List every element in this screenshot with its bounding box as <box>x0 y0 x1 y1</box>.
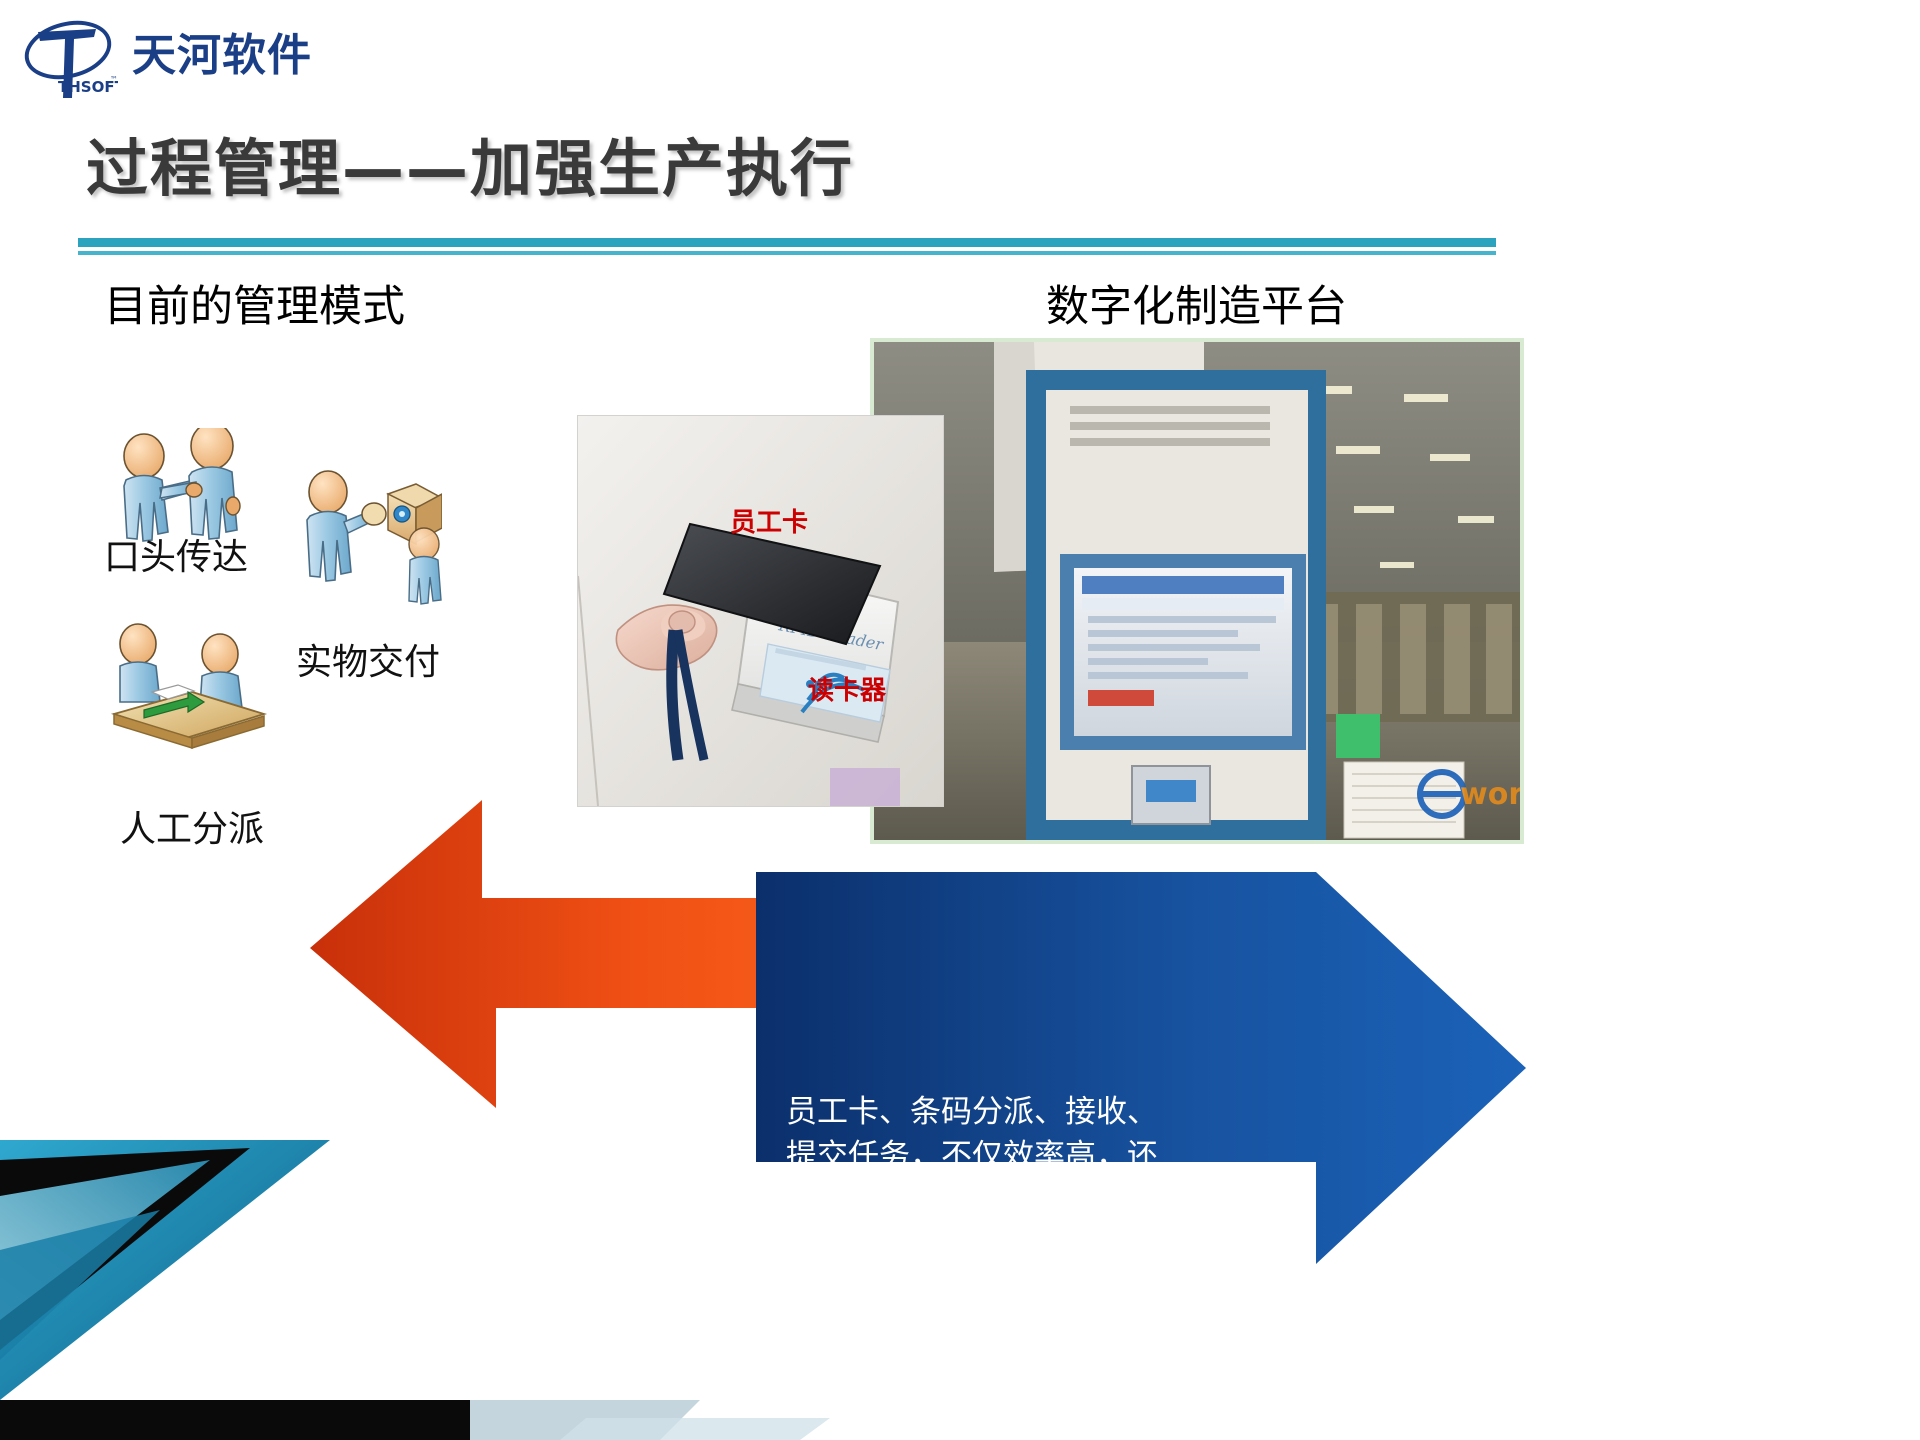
divider-bar-thick <box>78 238 1496 247</box>
two-people-desk-paper-icon <box>104 618 274 773</box>
thsoft-wordmark: THSOFT <box>58 78 118 96</box>
rfid-card-label: 员工卡 <box>730 502 808 539</box>
section-header-current-mode: 目前的管理模式 <box>104 272 405 334</box>
svg-text:works: works <box>1460 777 1520 812</box>
svg-text:™: ™ <box>110 75 118 84</box>
title-divider <box>78 238 1496 255</box>
brand-name: 天河软件 <box>132 34 312 78</box>
clipart-label-delivery: 实物交付 <box>296 633 440 685</box>
page-title: 过程管理——加强生产执行 <box>86 118 854 208</box>
arrow-current-mode-text: 通过人工单向分派任务、率低、责任不明确、执行力不强 <box>400 1128 740 1260</box>
section-header-digital-platform: 数字化制造平台 <box>1046 272 1347 334</box>
person-handing-box-icon <box>292 460 442 610</box>
clipart-label-assign: 人工分派 <box>120 800 264 852</box>
divider-bar-thin <box>78 251 1496 255</box>
rfid-reader-label: 读卡器 <box>808 670 886 707</box>
brand-logo: THSOFT ™ 天河软件 <box>22 8 312 104</box>
clipart-label-handshake: 口头传达 <box>104 528 248 580</box>
thsoft-logo-icon: THSOFT ™ <box>22 8 118 104</box>
arrow-digital-platform-text: 员工卡、条码分派、接收、提交任务，不仅效率高，还能利用系统记录工时，加强执行力 <box>772 1090 1172 1266</box>
